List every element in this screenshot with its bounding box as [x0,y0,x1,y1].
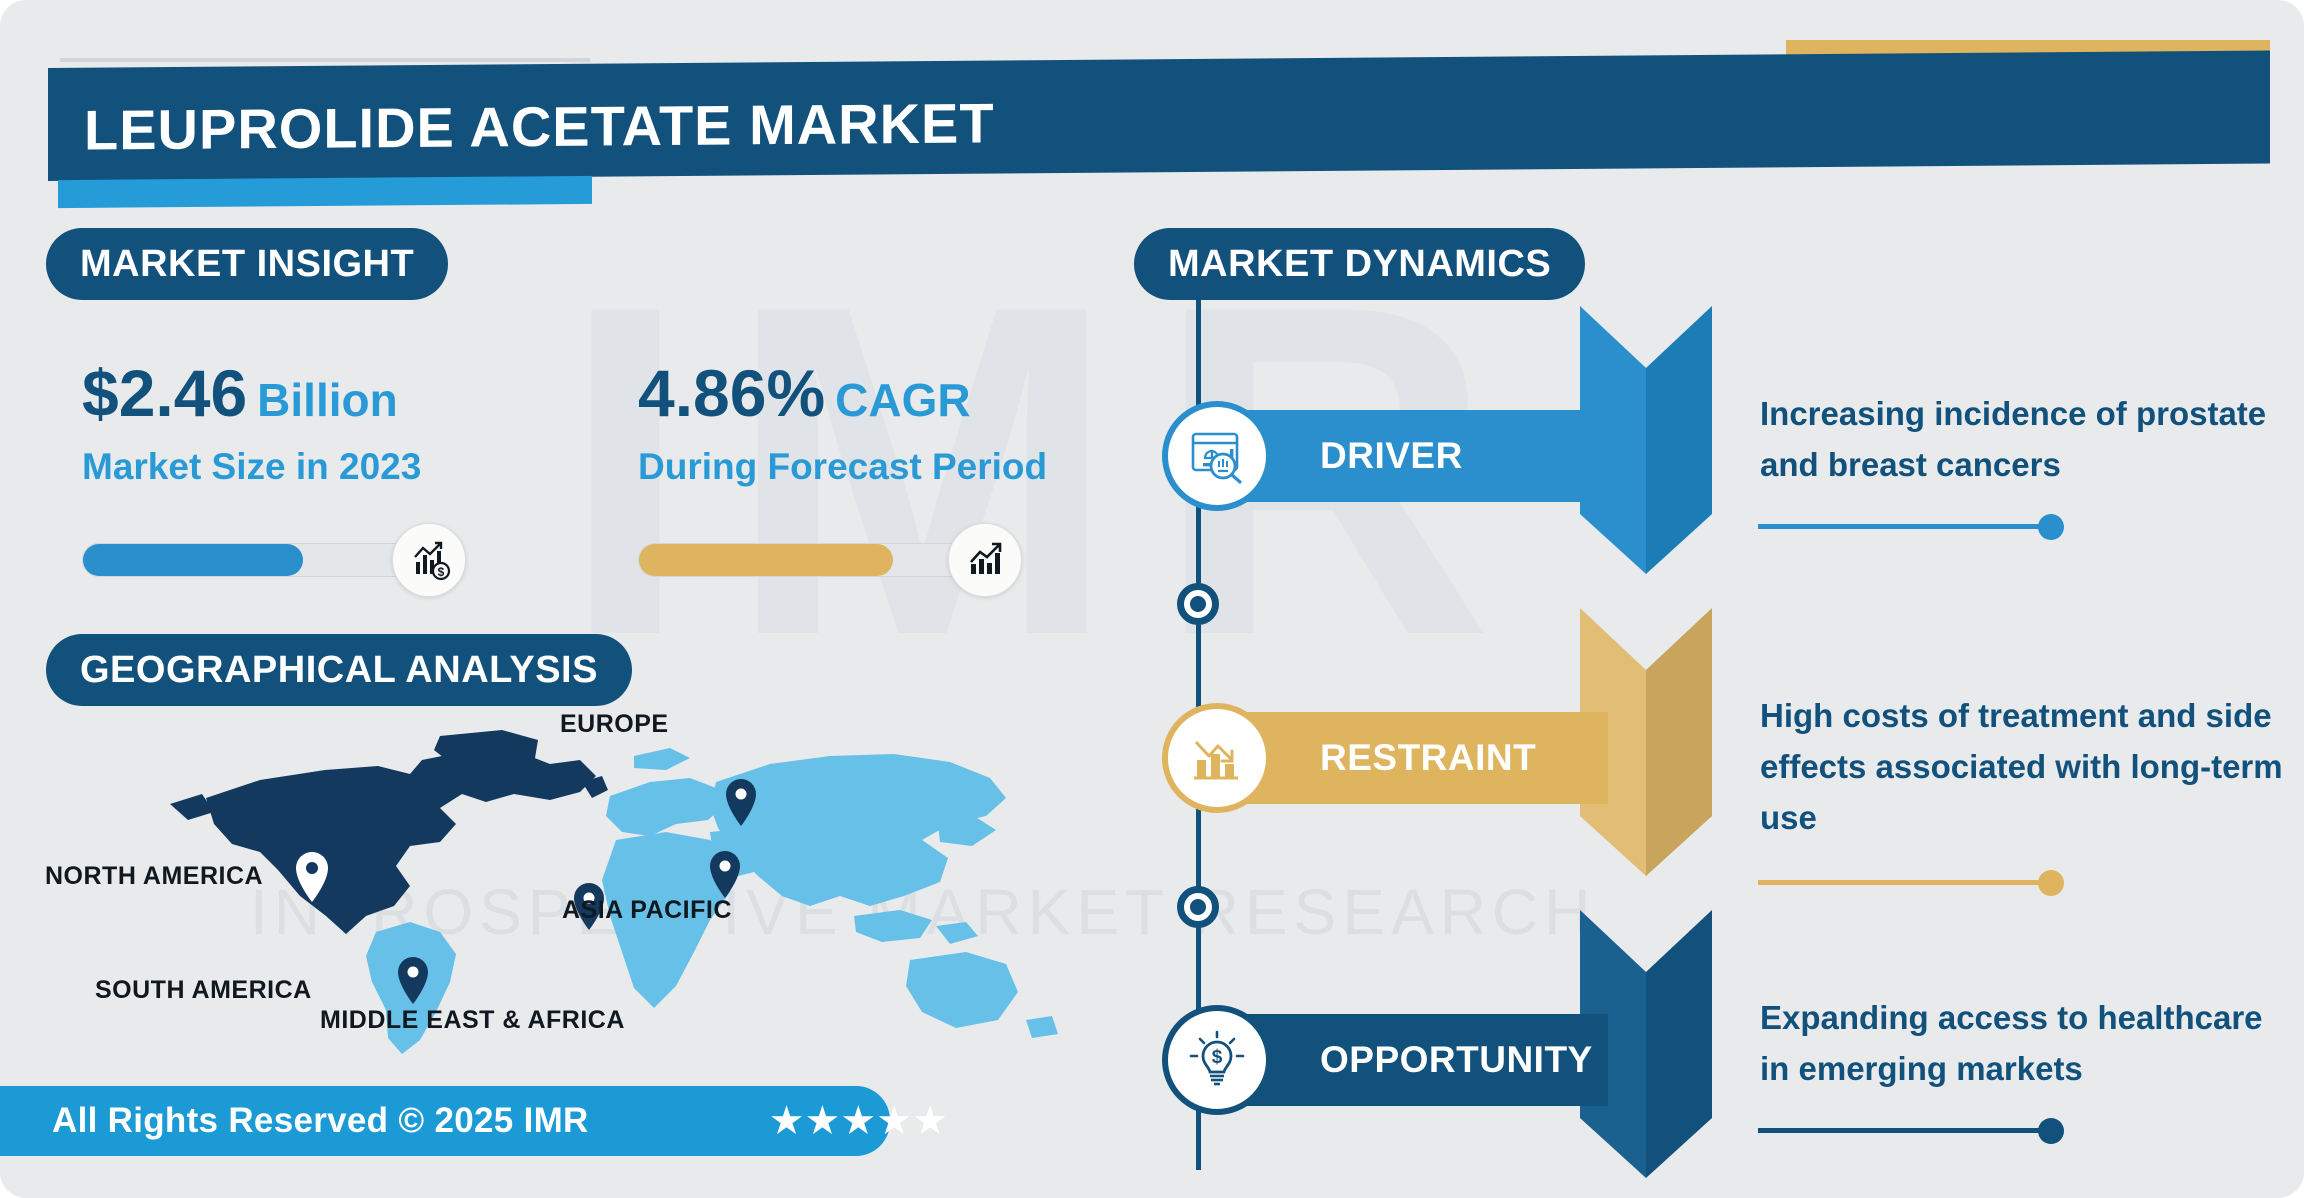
dynamics-description-driver: Increasing incidence of prostate and bre… [1760,388,2300,490]
data-analysis-magnifier-icon [1185,424,1249,488]
svg-text:$: $ [438,565,445,579]
footer-copyright: All Rights Reserved © 2025 IMR [52,1101,589,1141]
svg-text:$: $ [1212,1047,1223,1068]
dynamics-icon-opportunity: $ [1162,1005,1272,1115]
kpi-market-size-progress: $ [82,523,602,597]
section-heading-market-insight: MARKET INSIGHT [46,228,448,300]
kpi-cagr: 4.86%CAGR During Forecast Period [638,360,1158,597]
footer-bar: All Rights Reserved © 2025 IMR ★★★★★ [0,1086,890,1156]
section-heading-market-dynamics: MARKET DYNAMICS [1134,228,1585,300]
map-region-asia [710,754,1006,906]
timeline-node [1177,583,1219,625]
world-map: NORTH AMERICA SOUTH AMERICA EUROPE ASIA … [110,720,1130,1060]
dynamics-label-opportunity: OPPORTUNITY [1320,1014,1593,1106]
dynamics-description-opportunity: Expanding access to healthcare in emergi… [1760,992,2300,1094]
map-label-south-america: SOUTH AMERICA [95,976,312,1005]
growth-chart-arrow-icon [948,523,1022,597]
lightbulb-dollar-icon: $ [1185,1028,1249,1092]
footer-star-rating: ★★★★★ [769,1101,948,1141]
progress-fill [639,544,893,576]
kpi-cagr-caption: During Forecast Period [638,448,1158,485]
dynamics-connector-line [1758,1128,2050,1133]
infographic-canvas: IMR INTROSPECTIVE MARKET RESEARCH LEUPRO… [0,0,2304,1198]
kpi-market-size-value: $2.46 [82,356,247,430]
dynamics-connector-dot [2038,870,2064,896]
map-region-southeast-asia [854,910,978,944]
kpi-market-size: $2.46Billion Market Size in 2023 $ [82,360,602,597]
dynamics-label-driver: DRIVER [1320,410,1463,502]
map-label-middle-east-africa: MIDDLE EAST & AFRICA [320,1006,625,1035]
bar-chart-dollar-icon: $ [392,523,466,597]
dynamics-description-restraint: High costs of treatment and side effects… [1760,690,2300,843]
progress-fill [83,544,303,576]
section-heading-geographical-analysis: GEOGRAPHICAL ANALYSIS [46,634,632,706]
kpi-market-size-value-row: $2.46Billion [82,360,602,426]
kpi-cagr-unit: CAGR [835,374,970,426]
kpi-cagr-value-row: 4.86%CAGR [638,360,1158,426]
map-label-asia-pacific: ASIA PACIFIC [562,896,732,925]
dynamics-connector-dot [2038,514,2064,540]
star-rating-glyphs: ★★★★★ [769,1101,948,1141]
map-label-north-america: NORTH AMERICA [45,862,263,891]
dynamics-connector-line [1758,880,2050,885]
kpi-market-size-caption: Market Size in 2023 [82,448,602,485]
map-label-europe: EUROPE [560,710,669,739]
map-region-europe [606,748,724,836]
declining-bar-chart-icon [1185,726,1249,790]
dynamics-connector-dot [2038,1118,2064,1144]
progress-track [82,543,422,577]
page-title: LEUPROLIDE ACETATE MARKET [84,75,1484,174]
kpi-cagr-progress [638,523,1158,597]
progress-track [638,543,978,577]
map-region-australia [906,952,1058,1038]
kpi-cagr-value: 4.86% [638,356,825,430]
dynamics-connector-line [1758,524,2050,529]
dynamics-icon-driver [1162,401,1272,511]
dynamics-label-restraint: RESTRAINT [1320,712,1536,804]
map-region-north-america [170,730,608,934]
timeline-node [1177,886,1219,928]
header-blue-accent [58,176,592,208]
header-thin-rule [60,58,590,62]
kpi-market-size-unit: Billion [257,374,398,426]
dynamics-icon-restraint [1162,703,1272,813]
